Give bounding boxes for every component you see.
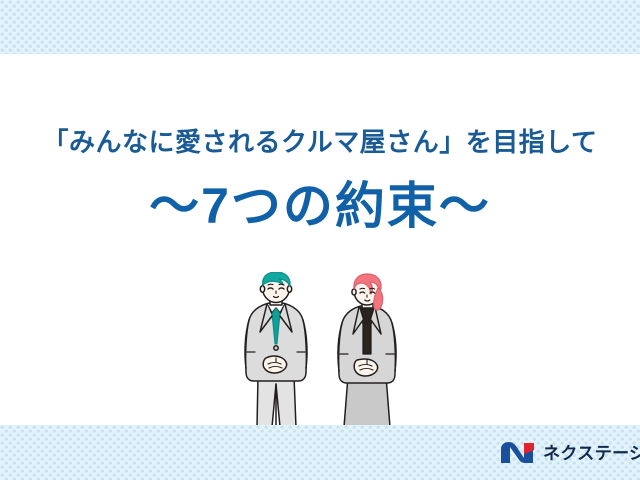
male-staff-figure <box>245 272 307 427</box>
nextage-logo: ネクステージ <box>500 440 640 466</box>
promo-slide: 「みんなに愛されるクルマ屋さん」を目指して 〜7つの約束〜 <box>0 0 640 480</box>
nextage-n-mark-icon <box>500 441 536 465</box>
headline-secondary: 〜7つの約束〜 <box>0 178 640 236</box>
headline-primary: 「みんなに愛されるクルマ屋さん」を目指して <box>0 128 640 157</box>
female-staff-figure <box>338 274 396 427</box>
logo-brand-text: ネクステージ <box>543 445 640 462</box>
two-bowing-staff-illustration <box>236 272 416 427</box>
top-dotted-band <box>0 0 640 54</box>
